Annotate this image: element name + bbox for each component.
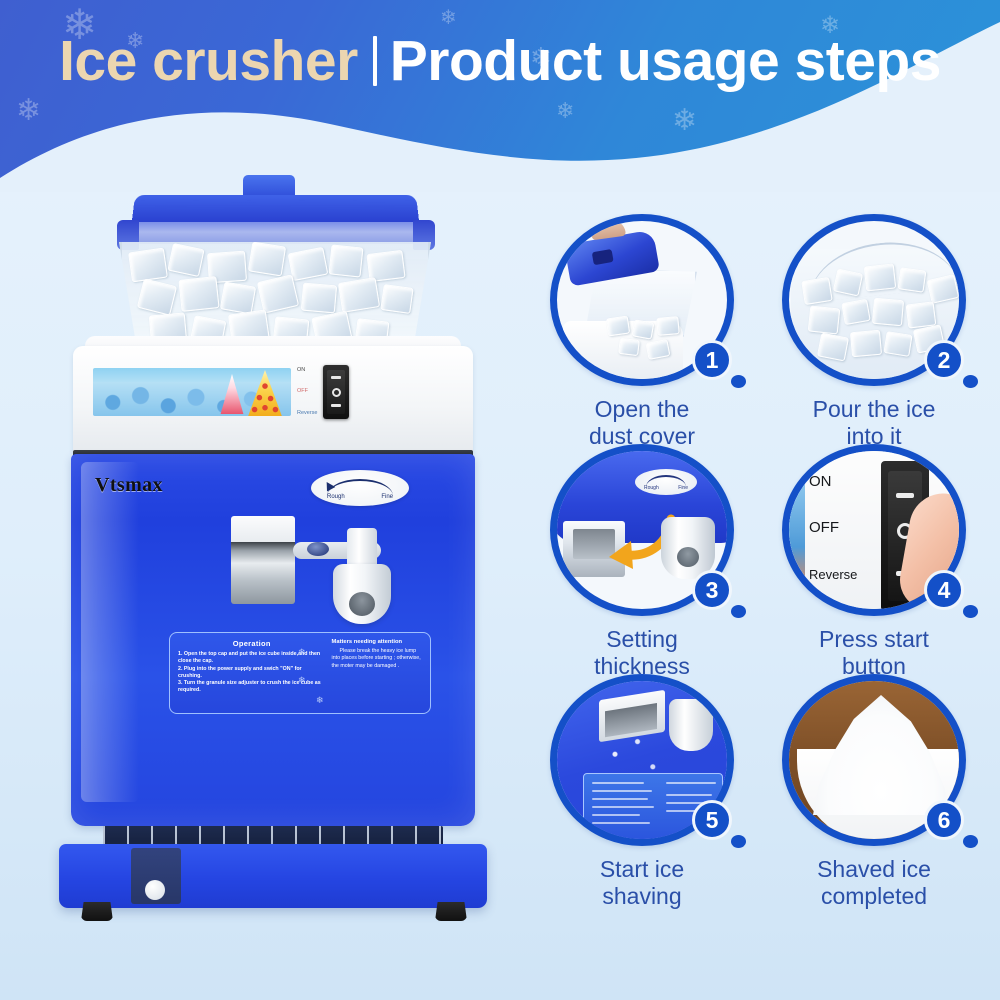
- badge-accent-dot: [731, 375, 746, 388]
- step-caption-line1: Open the: [528, 396, 756, 423]
- switch-label-off: OFF: [297, 389, 308, 395]
- dial-label-fine: Fine: [678, 485, 688, 491]
- switch-center-ring: [332, 388, 341, 397]
- lid-rim: [123, 222, 428, 244]
- step-number-badge: 2: [924, 340, 964, 380]
- operation-instruction-label: ❄ ❄ ❄ Operation 1. Open the top cap and …: [169, 632, 431, 714]
- title-secondary: Product usage steps: [390, 28, 941, 94]
- step-item-6: 6 Shaved ice completed: [760, 674, 988, 902]
- step-image-wrap: 6: [782, 674, 966, 846]
- switch-rocker[interactable]: [327, 370, 345, 414]
- ice-cube: [898, 267, 927, 292]
- snowflake-icon: ❄: [316, 695, 324, 706]
- ice-cube: [841, 299, 870, 325]
- step-item-2: 2 Pour the ice into it: [760, 214, 988, 442]
- usage-steps-grid: 1 Open the dust cover: [528, 214, 988, 914]
- machine-blue-body: Vtsmax Rough Fine ❄ ❄ ❄ Operation 1. Ope…: [71, 454, 475, 826]
- machine-white-body: ON OFF Reverse: [73, 346, 473, 454]
- badge-accent-dot: [731, 835, 746, 848]
- badge-accent-dot: [731, 605, 746, 618]
- ice-cube: [178, 276, 219, 312]
- ice-cube: [817, 333, 849, 362]
- switch-label-on: ON: [297, 368, 305, 374]
- step-caption: Pour the ice into it: [760, 396, 988, 450]
- ice-cube: [338, 277, 380, 313]
- step-item-3: Rough Fine 3 Setting thickness: [528, 444, 756, 672]
- switch-bar-top: [896, 493, 914, 498]
- ice-cube: [257, 274, 299, 313]
- step-caption-line1: Shaved ice: [760, 856, 988, 883]
- snowflake-icon: ❄: [298, 647, 306, 658]
- step-number-badge: 4: [924, 570, 964, 610]
- snowflake-icon: ❄: [298, 675, 306, 686]
- step-caption-line1: Press start: [760, 626, 988, 653]
- title-primary: Ice crusher: [59, 28, 358, 94]
- product-decal: [93, 368, 291, 416]
- machine-base: [59, 844, 487, 908]
- ice-cube: [301, 283, 337, 314]
- ice-cube: [883, 331, 912, 357]
- drain-plug: [145, 880, 165, 900]
- ice-cube: [220, 281, 256, 314]
- switch-bar-top: [331, 376, 341, 379]
- ice-cube: [606, 316, 630, 337]
- step-caption: Open the dust cover: [528, 396, 756, 450]
- ice-cube: [808, 306, 841, 335]
- step-image-wrap: 5: [550, 674, 734, 846]
- chute-top: [231, 516, 295, 544]
- granule-size-adjuster[interactable]: [333, 528, 391, 624]
- ice-cube: [872, 298, 904, 327]
- attention-text: Please break the heavy ice lump into pla…: [332, 648, 422, 670]
- step-item-5: 5 Start ice shaving: [528, 674, 756, 902]
- ice-cube: [248, 242, 286, 276]
- ice-cube: [329, 244, 364, 277]
- step-caption: Press start button: [760, 626, 988, 680]
- knob-hole: [677, 547, 699, 567]
- rubber-foot: [435, 902, 467, 921]
- dial-label-rough: Rough: [644, 485, 659, 491]
- step-image-wrap: Rough Fine 3: [550, 444, 734, 616]
- step-item-1: 1 Open the dust cover: [528, 214, 756, 442]
- switch-bar-bottom: [331, 404, 341, 407]
- thickness-dial-illustration[interactable]: Rough Fine: [635, 469, 697, 495]
- brand-logo: Vtsmax: [95, 474, 163, 497]
- step-caption-line1: Setting: [528, 626, 756, 653]
- ice-cube: [380, 284, 413, 314]
- power-switch[interactable]: [323, 365, 349, 419]
- step-image-wrap: ON OFF Reverse 4: [782, 444, 966, 616]
- ice-cube: [656, 316, 679, 336]
- ice-cube: [137, 278, 177, 315]
- step-caption-line1: Pour the ice: [760, 396, 988, 423]
- step-number-badge: 5: [692, 800, 732, 840]
- chute-pivot: [307, 542, 329, 556]
- dial-label-rough: Rough: [327, 494, 345, 500]
- switch-label-reverse: Reverse: [809, 567, 857, 582]
- step-caption: Setting thickness: [528, 626, 756, 680]
- step-caption-line2: completed: [760, 883, 988, 910]
- step-caption-line2: shaving: [528, 883, 756, 910]
- attention-column: Matters needing attention Please break t…: [332, 639, 422, 707]
- rubber-foot: [81, 902, 113, 921]
- ice-cube: [288, 247, 329, 281]
- step-caption: Start ice shaving: [528, 856, 756, 910]
- body-gloss-highlight: [81, 462, 139, 802]
- ice-cube: [850, 330, 882, 358]
- step-image-wrap: 2: [782, 214, 966, 386]
- ice-cube: [128, 248, 168, 283]
- knob-head[interactable]: [333, 564, 391, 624]
- ice-cube: [864, 264, 896, 292]
- step-number-badge: 1: [692, 340, 732, 380]
- knob-hole: [349, 592, 375, 616]
- page-title: Ice crusher Product usage steps: [0, 27, 1000, 95]
- ice-cube: [801, 277, 832, 305]
- switch-label-on: ON: [809, 473, 832, 490]
- ice-cube: [618, 338, 640, 356]
- panel-decal-strip: [789, 481, 805, 591]
- ice-cube: [632, 319, 655, 339]
- step-item-4: ON OFF Reverse 4 Press start button: [760, 444, 988, 672]
- step-caption-line1: Start ice: [528, 856, 756, 883]
- badge-accent-dot: [963, 835, 978, 848]
- ice-outlet-chute: [231, 542, 295, 604]
- switch-label-group: ON OFF Reverse: [297, 368, 321, 416]
- step-number-badge: 6: [924, 800, 964, 840]
- switch-label-off: OFF: [809, 519, 839, 536]
- attention-heading: Matters needing attention: [332, 639, 422, 645]
- product-image: ON OFF Reverse Vtsmax Rough Fine: [45, 150, 495, 980]
- thickness-dial[interactable]: Rough Fine: [311, 470, 409, 506]
- ice-cube: [167, 243, 204, 277]
- step-image-wrap: 1: [550, 214, 734, 386]
- badge-accent-dot: [963, 605, 978, 618]
- switch-label-reverse: Reverse: [297, 411, 317, 417]
- step-caption: Shaved ice completed: [760, 856, 988, 910]
- title-separator: [373, 36, 377, 86]
- ice-cube: [906, 301, 937, 328]
- badge-accent-dot: [963, 375, 978, 388]
- dial-label-fine: Fine: [381, 494, 393, 500]
- step-number-badge: 3: [692, 570, 732, 610]
